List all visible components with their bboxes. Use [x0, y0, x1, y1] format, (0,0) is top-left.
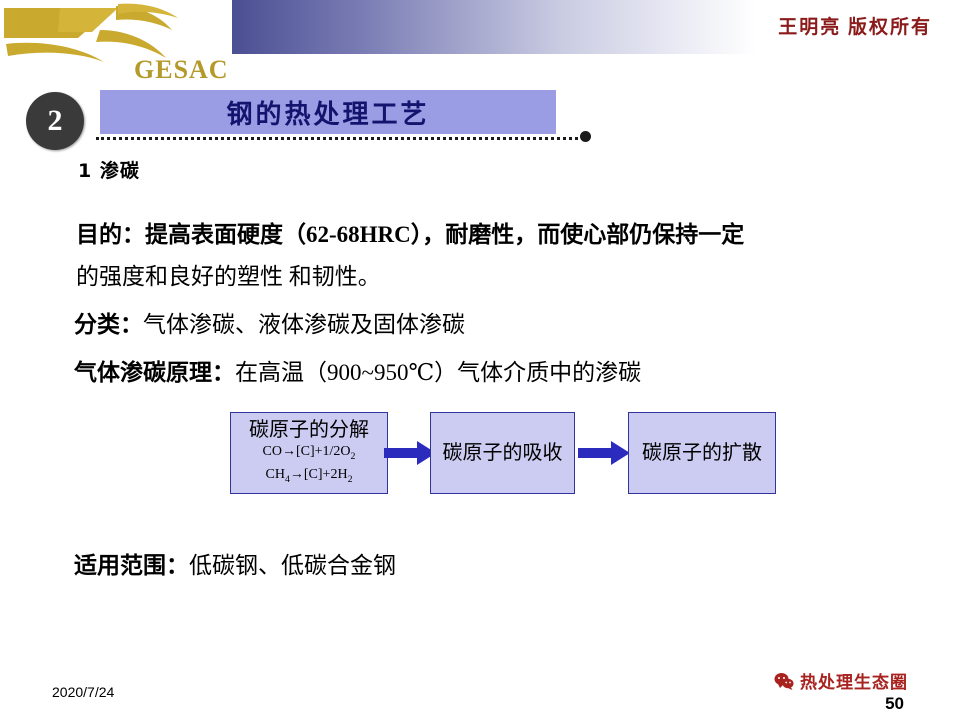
- paragraph-purpose-line1: 目的：提高表面硬度（62-68HRC），耐磨性，而使心部仍保持一定: [76, 215, 744, 249]
- flow-box-formula-line1: CO→[C]+1/2O2: [231, 443, 387, 466]
- title-rule-end-dot: [580, 131, 591, 142]
- copyright-text: 王明亮 版权所有: [778, 12, 932, 39]
- page-title: 钢的热处理工艺: [226, 94, 429, 131]
- formula2-main: CH: [266, 467, 285, 482]
- formula2-mid: →[C]+2H: [290, 467, 348, 482]
- logo-text: GESAC: [134, 55, 229, 85]
- formula1-main: CO→[C]+1/2O: [263, 444, 351, 459]
- section-heading: 1 渗碳: [78, 156, 140, 183]
- paragraph-scope: 适用范围：低碳钢、低碳合金钢: [74, 546, 396, 580]
- section-number-badge: 2: [26, 92, 84, 150]
- footer-brand: 热处理生态圈: [774, 668, 908, 693]
- flow-box-absorption: 碳原子的吸收: [430, 412, 575, 494]
- classification-label: 分类：: [74, 312, 143, 337]
- paragraph-purpose-line2: 的强度和良好的塑性 和韧性。: [76, 257, 381, 291]
- flow-box-diffusion-title: 碳原子的扩散: [642, 440, 762, 466]
- footer-brand-text: 热处理生态圈: [800, 668, 908, 693]
- flow-box-diffusion: 碳原子的扩散: [628, 412, 776, 494]
- slide-title-band: 钢的热处理工艺: [100, 90, 556, 134]
- flow-arrow-1: [384, 441, 436, 465]
- principle-value: 在高温（900~950℃）气体介质中的渗碳: [235, 360, 641, 385]
- flow-box-formula-line2: CH4→[C]+2H2: [231, 466, 387, 489]
- principle-label: 气体渗碳原理：: [74, 360, 235, 385]
- paragraph-classification: 分类：气体渗碳、液体渗碳及固体渗碳: [74, 305, 465, 339]
- paragraph-principle: 气体渗碳原理：在高温（900~950℃）气体介质中的渗碳: [74, 353, 641, 387]
- flow-arrow-2: [578, 441, 630, 465]
- wechat-icon: [774, 672, 794, 690]
- gesac-logo: GESAC: [0, 0, 240, 90]
- formula1-sub: 2: [351, 451, 356, 462]
- paragraph-purpose-line2-text: 的强度和良好的塑性 和韧性。: [76, 264, 381, 289]
- page-number: 50: [885, 694, 904, 714]
- classification-value: 气体渗碳、液体渗碳及固体渗碳: [143, 312, 465, 337]
- flow-box-decomposition-title: 碳原子的分解: [231, 417, 387, 443]
- footer-date: 2020/7/24: [52, 684, 114, 700]
- flow-box-absorption-title: 碳原子的吸收: [443, 440, 563, 466]
- title-dotted-rule: [96, 137, 584, 140]
- formula2-sub2: 2: [348, 474, 353, 485]
- slide-canvas: 王明亮 版权所有 GESAC 2 钢的热处理工艺 1 渗碳 目的：提高表面硬度（…: [0, 0, 960, 720]
- scope-label: 适用范围：: [74, 553, 189, 578]
- paragraph-purpose-line1-text: 目的：提高表面硬度（62-68HRC），耐磨性，而使心部仍保持一定: [76, 222, 744, 247]
- flow-box-decomposition: 碳原子的分解 CO→[C]+1/2O2 CH4→[C]+2H2: [230, 412, 388, 494]
- scope-value: 低碳钢、低碳合金钢: [189, 553, 396, 578]
